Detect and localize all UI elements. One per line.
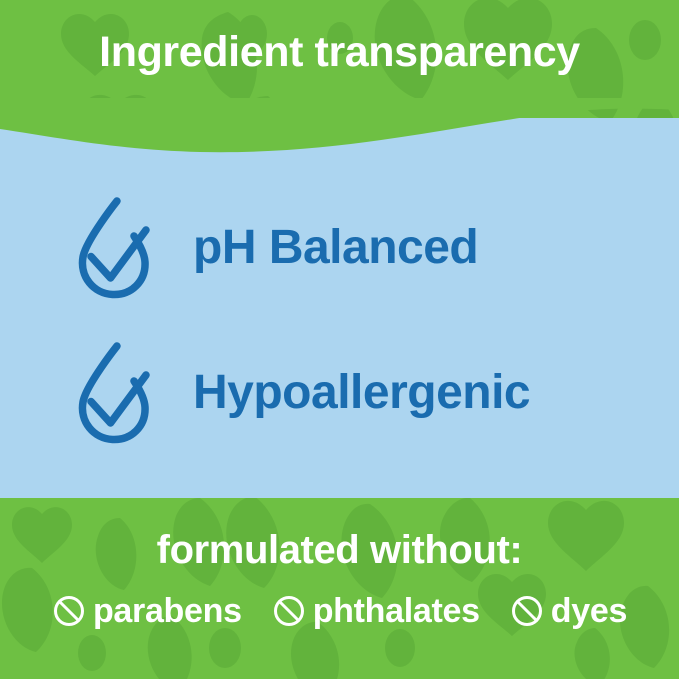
claim-item-ph-balanced: pH Balanced [0, 175, 679, 320]
excluded-label: parabens [93, 594, 242, 628]
ingredient-transparency-infographic: Ingredient transparency pH Balanced [0, 0, 679, 679]
claim-label: Hypoallergenic [193, 369, 530, 417]
claim-item-hypoallergenic: Hypoallergenic [0, 320, 679, 465]
no-symbol-icon [510, 594, 544, 628]
droplet-check-icon [70, 340, 158, 446]
page-title: Ingredient transparency [0, 31, 679, 74]
claim-label: pH Balanced [193, 224, 478, 272]
no-symbol-icon [52, 594, 86, 628]
green-leaf-heart-pattern [0, 498, 679, 679]
footer-title: formulated without: [0, 530, 679, 570]
droplet-check-icon [70, 195, 158, 301]
excluded-label: dyes [551, 594, 627, 628]
no-symbol-icon [272, 594, 306, 628]
excluded-item-dyes: dyes [510, 594, 627, 628]
excluded-item-parabens: parabens [52, 594, 242, 628]
excluded-ingredients-list: parabens phthalates dyes [0, 594, 679, 628]
excluded-label: phthalates [313, 594, 480, 628]
bottom-green-band [0, 498, 679, 679]
claims-list: pH Balanced Hypoallergenic [0, 175, 679, 465]
wave-divider [0, 98, 679, 168]
excluded-item-phthalates: phthalates [272, 594, 480, 628]
